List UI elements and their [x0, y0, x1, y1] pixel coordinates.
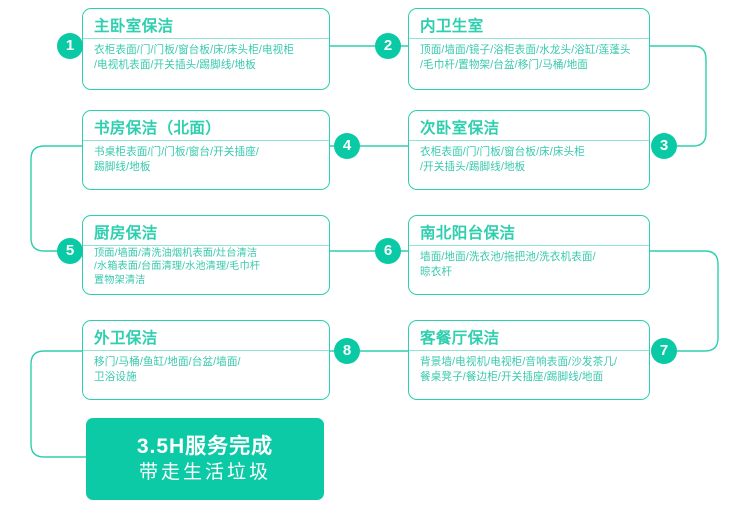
service-card-balcony[interactable]: 南北阳台保洁 墙面/地面/洗衣池/拖把池/洗衣机表面/ 晾衣杆	[408, 215, 650, 295]
card-divider	[409, 350, 649, 351]
card-title: 厨房保洁	[94, 221, 158, 243]
wire-2-to-3	[650, 46, 706, 146]
step-number-4: 4	[334, 133, 360, 159]
service-flow-infographic: 主卧室保洁 衣柜表面/门/门板/窗台板/床/床头柜/电视柜 /电视机表面/开关插…	[0, 0, 750, 521]
card-divider	[83, 38, 329, 39]
step-number-1: 1	[57, 33, 83, 59]
step-number-5: 5	[57, 238, 83, 264]
card-items: 顶面/墙面/镜子/浴柜表面/水龙头/浴缸/莲蓬头 /毛巾杆/置物架/台盆/移门/…	[420, 43, 642, 72]
card-title: 次卧室保洁	[420, 116, 500, 138]
banner-line-2: 带走生活垃圾	[139, 460, 271, 485]
service-card-main-bedroom[interactable]: 主卧室保洁 衣柜表面/门/门板/窗台板/床/床头柜/电视柜 /电视机表面/开关插…	[82, 8, 330, 90]
card-divider	[409, 140, 649, 141]
step-number-3: 3	[651, 133, 677, 159]
card-divider	[83, 140, 329, 141]
step-number-8: 8	[334, 338, 360, 364]
card-items: 顶面/墙面/清洗油烟机表面/灶台清洁 /水箱表面/台面清理/水池清理/毛巾杆 置…	[94, 247, 322, 287]
service-card-second-bedroom[interactable]: 次卧室保洁 衣柜表面/门/门板/窗台板/床/床头柜 /开关插头/踢脚线/地板	[408, 110, 650, 190]
card-items: 衣柜表面/门/门板/窗台板/床/床头柜/电视柜 /电视机表面/开关插头/踢脚线/…	[94, 43, 322, 72]
card-divider	[409, 245, 649, 246]
card-items: 墙面/地面/洗衣池/拖把池/洗衣机表面/ 晾衣杆	[420, 250, 642, 279]
service-card-kitchen[interactable]: 厨房保洁 顶面/墙面/清洗油烟机表面/灶台清洁 /水箱表面/台面清理/水池清理/…	[82, 215, 330, 295]
wire-6-to-7	[650, 251, 718, 351]
service-card-living-dining[interactable]: 客餐厅保洁 背景墙/电视机/电视柜/音响表面/沙发茶几/ 餐桌凳子/餐边柜/开关…	[408, 320, 650, 400]
wire-4-to-5	[31, 146, 82, 251]
card-title: 书房保洁（北面）	[94, 116, 221, 138]
card-items: 移门/马桶/鱼缸/地面/台盆/墙面/ 卫浴设施	[94, 355, 322, 384]
card-title: 南北阳台保洁	[420, 221, 515, 243]
card-items: 衣柜表面/门/门板/窗台板/床/床头柜 /开关插头/踢脚线/地板	[420, 145, 642, 174]
service-card-study-north[interactable]: 书房保洁（北面） 书桌柜表面/门/门板/窗台/开关插座/ 踢脚线/地板	[82, 110, 330, 190]
step-number-6: 6	[375, 238, 401, 264]
card-title: 外卫保洁	[94, 326, 158, 348]
banner-line-1: 3.5H服务完成	[137, 434, 273, 460]
card-items: 背景墙/电视机/电视柜/音响表面/沙发茶几/ 餐桌凳子/餐边柜/开关插座/踢脚线…	[420, 355, 642, 384]
card-title: 内卫生室	[420, 14, 484, 36]
card-divider	[409, 38, 649, 39]
service-card-inner-bathroom[interactable]: 内卫生室 顶面/墙面/镜子/浴柜表面/水龙头/浴缸/莲蓬头 /毛巾杆/置物架/台…	[408, 8, 650, 90]
service-card-outer-bathroom[interactable]: 外卫保洁 移门/马桶/鱼缸/地面/台盆/墙面/ 卫浴设施	[82, 320, 330, 400]
card-title: 主卧室保洁	[94, 14, 174, 36]
card-divider	[83, 350, 329, 351]
completion-banner: 3.5H服务完成 带走生活垃圾	[86, 418, 324, 500]
card-divider	[83, 245, 329, 246]
card-items: 书桌柜表面/门/门板/窗台/开关插座/ 踢脚线/地板	[94, 145, 322, 174]
card-title: 客餐厅保洁	[420, 326, 500, 348]
step-number-7: 7	[651, 338, 677, 364]
step-number-2: 2	[375, 33, 401, 59]
